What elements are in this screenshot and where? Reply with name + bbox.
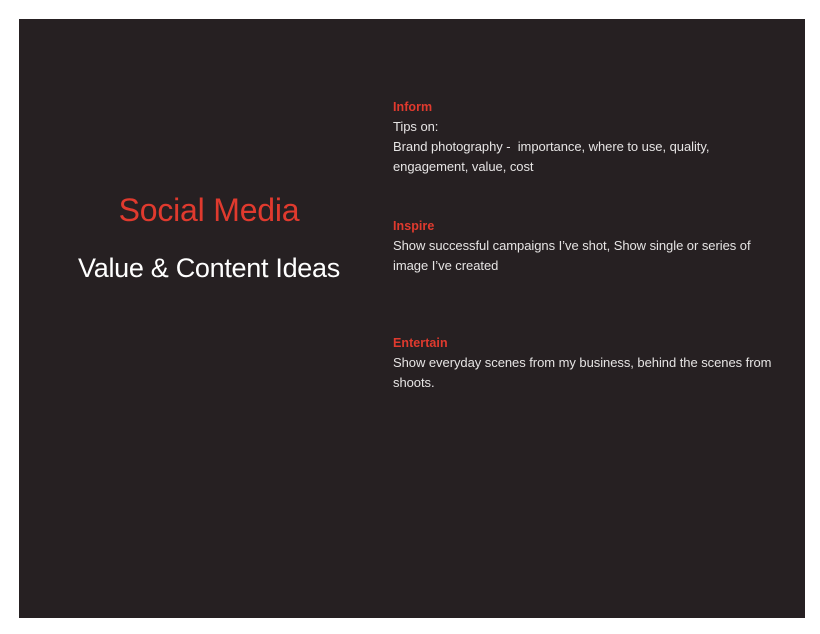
content-block-inform: Inform Tips on: Brand photography - impo… bbox=[393, 98, 785, 177]
content-heading-inspire: Inspire bbox=[393, 217, 785, 235]
content-body-inspire: Show successful campaigns I’ve shot, Sho… bbox=[393, 236, 785, 276]
page-title: Social Media bbox=[19, 194, 399, 228]
content-block-entertain: Entertain Show everyday scenes from my b… bbox=[393, 334, 785, 393]
content-block-inspire: Inspire Show successful campaigns I’ve s… bbox=[393, 217, 785, 276]
content-heading-entertain: Entertain bbox=[393, 334, 785, 352]
content-column: Inform Tips on: Brand photography - impo… bbox=[393, 98, 785, 393]
content-body-entertain: Show everyday scenes from my business, b… bbox=[393, 353, 785, 393]
content-body-inform: Tips on: Brand photography - importance,… bbox=[393, 117, 785, 177]
content-heading-inform: Inform bbox=[393, 98, 785, 116]
page-subtitle: Value & Content Ideas bbox=[19, 228, 399, 282]
slide-title-block: Social Media Value & Content Ideas bbox=[19, 194, 399, 282]
slide-canvas: Social Media Value & Content Ideas Infor… bbox=[19, 19, 805, 618]
